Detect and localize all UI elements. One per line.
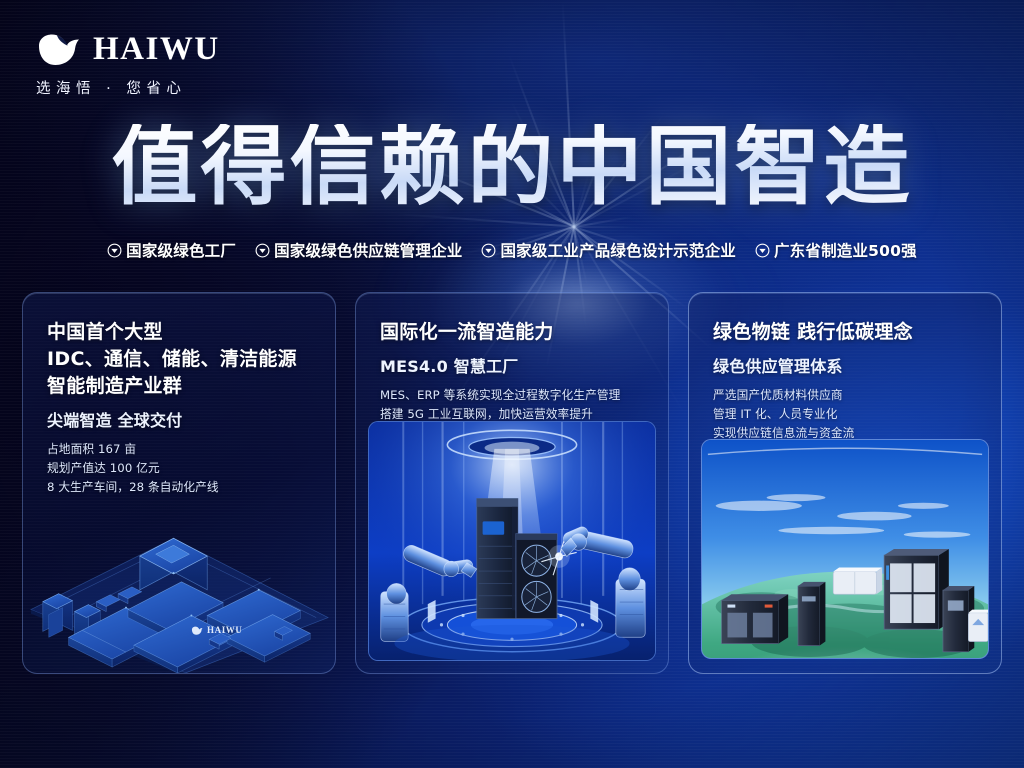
card-title-line-1: 中国首个大型 — [47, 319, 311, 346]
ups-robot-platform-illustration — [368, 421, 656, 661]
certification-badge-row: 国家级绿色工厂 国家级绿色供应链管理企业 国家级工业产品绿色设计示范企业 广东省… — [0, 239, 1024, 261]
badge-label: 国家级绿色工厂 — [126, 239, 236, 261]
card-title: 国际化一流智造能力 — [380, 319, 644, 346]
card-title: 中国首个大型 IDC、通信、储能、清洁能源 智能制造产业群 — [47, 319, 311, 400]
card-detail-item: MES、ERP 等系统实现全过程数字化生产管理 — [380, 386, 644, 405]
haiwu-bird-mark-icon — [36, 32, 84, 66]
shield-check-icon — [755, 243, 770, 258]
badge-label: 国家级绿色供应链管理企业 — [274, 239, 462, 261]
card-detail-item: 严选国产优质材料供应商 — [713, 386, 977, 405]
card-detail-item: 管理 IT 化、人员专业化 — [713, 405, 977, 424]
badge-label: 国家级工业产品绿色设计示范企业 — [500, 239, 736, 261]
green-earth-products-illustration — [701, 439, 989, 659]
shield-check-icon — [481, 243, 496, 258]
brand-wordmark: HAIWU — [93, 33, 220, 66]
brand-tagline: 选海悟 · 您省心 — [36, 77, 220, 98]
card-title-line-1: 国际化一流智造能力 — [380, 319, 644, 346]
shield-check-icon — [255, 243, 270, 258]
badge-label: 广东省制造业500强 — [774, 239, 917, 261]
badge-item: 国家级工业产品绿色设计示范企业 — [481, 239, 736, 261]
watermark-text: HAIWU — [207, 625, 243, 635]
brand-header: HAIWU 选海悟 · 您省心 — [36, 32, 220, 98]
card-title: 绿色物链 践行低碳理念 — [713, 319, 977, 346]
card-title-line-1: 绿色物链 践行低碳理念 — [713, 319, 977, 346]
card-smart-manufacturing[interactable]: 国际化一流智造能力 MES4.0 智慧工厂 MES、ERP 等系统实现全过程数字… — [355, 292, 669, 674]
shield-check-icon — [107, 243, 122, 258]
feature-card-row: 中国首个大型 IDC、通信、储能、清洁能源 智能制造产业群 尖端智造 全球交付 … — [22, 292, 1002, 674]
illustration-watermark: HAIWU — [191, 625, 243, 635]
card-title-line-3: 智能制造产业群 — [47, 373, 311, 400]
card-subtitle: MES4.0 智慧工厂 — [380, 353, 644, 377]
badge-item: 国家级绿色供应链管理企业 — [255, 239, 462, 261]
card-green-supply-chain[interactable]: 绿色物链 践行低碳理念 绿色供应管理体系 严选国产优质材料供应商 管理 IT 化… — [688, 292, 1002, 674]
card-subtitle: 绿色供应管理体系 — [713, 353, 977, 377]
page-title: 值得信赖的中国智造 — [0, 124, 1024, 212]
hero-section: 值得信赖的中国智造 — [0, 124, 1024, 212]
haiwu-bird-mark-icon — [191, 626, 204, 635]
card-title-line-2: IDC、通信、储能、清洁能源 — [47, 346, 311, 373]
card-detail-list: MES、ERP 等系统实现全过程数字化生产管理 搭建 5G 工业互联网，加快运营… — [380, 386, 644, 424]
isometric-factory-illustration: 1 咨询设计研究院 8 子公司 31 省级分支机构 600+ 地级服务网点 — [23, 441, 335, 673]
badge-item: 广东省制造业500强 — [755, 239, 917, 261]
logo-lockup[interactable]: HAIWU — [36, 32, 220, 66]
card-subtitle: 尖端智造 全球交付 — [47, 407, 311, 431]
badge-item: 国家级绿色工厂 — [107, 239, 236, 261]
card-industry-cluster[interactable]: 中国首个大型 IDC、通信、储能、清洁能源 智能制造产业群 尖端智造 全球交付 … — [22, 292, 336, 674]
